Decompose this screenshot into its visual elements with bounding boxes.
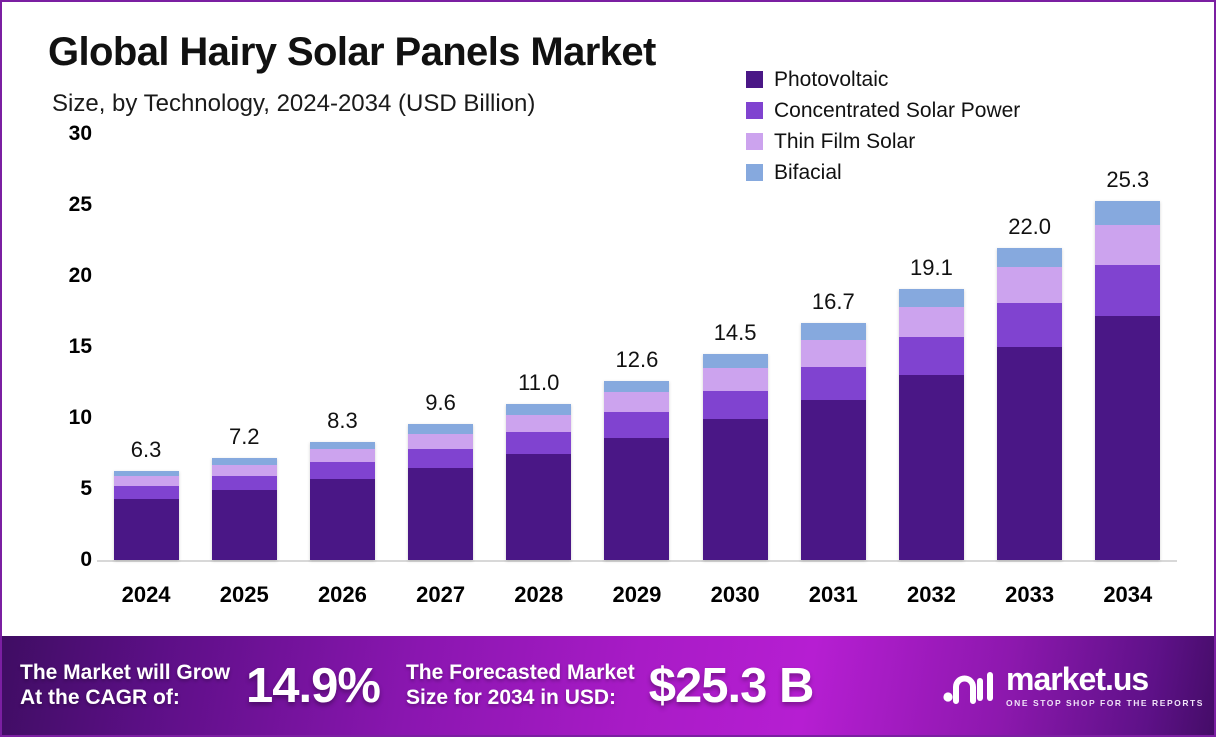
bar-total-label: 22.0 — [981, 214, 1079, 240]
bar-group[interactable]: 19.1 — [882, 134, 980, 560]
bar-total-label: 6.3 — [97, 437, 195, 463]
bar-segment[interactable] — [899, 307, 964, 337]
bar-total-label: 25.3 — [1079, 167, 1177, 193]
y-axis-tick-label: 10 — [69, 406, 92, 430]
cagr-caption-line1: The Market will Grow — [20, 661, 230, 686]
bar-segment[interactable] — [1095, 225, 1160, 265]
y-axis-tick-label: 20 — [69, 264, 92, 288]
bar-segment[interactable] — [604, 438, 669, 560]
bar-segment[interactable] — [114, 499, 179, 560]
stacked-bar[interactable] — [899, 289, 964, 560]
bar-segment[interactable] — [1095, 201, 1160, 225]
bar-segment[interactable] — [604, 412, 669, 438]
x-axis-tick-label: 2026 — [293, 582, 391, 608]
x-axis-tick-label: 2025 — [195, 582, 293, 608]
stacked-bar[interactable] — [310, 442, 375, 560]
logo-tagline: ONE STOP SHOP FOR THE REPORTS — [1006, 698, 1204, 708]
bar-segment[interactable] — [212, 490, 277, 560]
market-us-logo-text: market.us ONE STOP SHOP FOR THE REPORTS — [1006, 663, 1204, 708]
bar-segment[interactable] — [1095, 316, 1160, 560]
forecast-caption: The Forecasted Market Size for 2034 in U… — [406, 661, 635, 711]
logo-wordmark: market.us — [1006, 663, 1204, 695]
bar-segment[interactable] — [212, 476, 277, 490]
market-us-logo[interactable]: market.us ONE STOP SHOP FOR THE REPORTS — [943, 663, 1204, 708]
bar-segment[interactable] — [703, 368, 768, 391]
bar-total-label: 16.7 — [784, 289, 882, 315]
bar-segment[interactable] — [1095, 265, 1160, 316]
page-title: Global Hairy Solar Panels Market — [48, 30, 656, 75]
bar-segment[interactable] — [310, 442, 375, 449]
x-axis-tick-label: 2028 — [490, 582, 588, 608]
x-axis-tick-label: 2024 — [97, 582, 195, 608]
y-axis-tick-label: 5 — [80, 477, 92, 501]
y-axis: 051015202530 — [32, 134, 92, 560]
legend-item-label: Photovoltaic — [774, 68, 888, 92]
stacked-bar[interactable] — [408, 424, 473, 560]
bar-total-label: 8.3 — [293, 408, 391, 434]
bar-series-area: 6.37.28.39.611.012.614.516.719.122.025.3 — [97, 134, 1177, 560]
stacked-bar[interactable] — [703, 354, 768, 560]
bar-group[interactable]: 16.7 — [784, 134, 882, 560]
bar-total-label: 11.0 — [490, 370, 588, 396]
bar-segment[interactable] — [604, 381, 669, 392]
bar-segment[interactable] — [801, 367, 866, 400]
x-axis-tick-label: 2027 — [392, 582, 490, 608]
y-axis-tick-label: 0 — [80, 548, 92, 572]
stacked-bar[interactable] — [114, 471, 179, 560]
bar-group[interactable]: 25.3 — [1079, 134, 1177, 560]
bar-total-label: 9.6 — [392, 390, 490, 416]
bar-segment[interactable] — [310, 479, 375, 560]
market-us-logo-icon — [943, 668, 997, 704]
bar-group[interactable]: 6.3 — [97, 134, 195, 560]
bar-segment[interactable] — [997, 303, 1062, 347]
x-axis-tick-label: 2029 — [588, 582, 686, 608]
bar-group[interactable]: 12.6 — [588, 134, 686, 560]
bar-segment[interactable] — [899, 289, 964, 307]
bar-segment[interactable] — [506, 404, 571, 415]
bar-segment[interactable] — [604, 392, 669, 412]
bar-segment[interactable] — [506, 415, 571, 432]
bar-total-label: 14.5 — [686, 320, 784, 346]
x-axis-tick-label: 2033 — [981, 582, 1079, 608]
x-axis-tick-label: 2031 — [784, 582, 882, 608]
stacked-bar[interactable] — [801, 323, 866, 560]
stacked-bar[interactable] — [212, 458, 277, 560]
bar-group[interactable]: 7.2 — [195, 134, 293, 560]
legend-item-label: Concentrated Solar Power — [774, 99, 1020, 123]
bar-segment[interactable] — [310, 462, 375, 479]
footer-banner: The Market will Grow At the CAGR of: 14.… — [2, 636, 1216, 735]
bar-group[interactable]: 22.0 — [981, 134, 1079, 560]
infographic-page: Global Hairy Solar Panels Market Size, b… — [0, 0, 1216, 737]
legend-item: Photovoltaic — [746, 68, 1020, 91]
bar-group[interactable]: 14.5 — [686, 134, 784, 560]
bar-segment[interactable] — [114, 486, 179, 499]
bar-segment[interactable] — [310, 449, 375, 462]
bar-segment[interactable] — [114, 476, 179, 486]
stacked-bar[interactable] — [604, 381, 669, 560]
bar-segment[interactable] — [212, 458, 277, 465]
stacked-bar[interactable] — [506, 404, 571, 560]
y-axis-tick-label: 30 — [69, 122, 92, 146]
bar-segment[interactable] — [899, 375, 964, 560]
bar-segment[interactable] — [899, 337, 964, 375]
forecast-value: $25.3 B — [649, 658, 814, 714]
x-axis-labels: 2024202520262027202820292030203120322033… — [97, 578, 1177, 612]
bar-total-label: 12.6 — [588, 347, 686, 373]
axis-baseline — [97, 560, 1177, 562]
bar-segment[interactable] — [801, 400, 866, 560]
forecast-caption-line1: The Forecasted Market — [406, 661, 635, 686]
y-axis-tick-label: 25 — [69, 193, 92, 217]
page-subtitle: Size, by Technology, 2024-2034 (USD Bill… — [52, 90, 535, 118]
cagr-value: 14.9% — [246, 658, 380, 714]
bar-segment[interactable] — [408, 468, 473, 560]
bar-segment[interactable] — [997, 248, 1062, 268]
x-axis-tick-label: 2030 — [686, 582, 784, 608]
bar-group[interactable]: 11.0 — [490, 134, 588, 560]
cagr-caption-line2: At the CAGR of: — [20, 686, 230, 711]
bar-segment[interactable] — [212, 465, 277, 476]
x-axis-tick-label: 2034 — [1079, 582, 1177, 608]
x-axis-tick-label: 2032 — [882, 582, 980, 608]
y-axis-tick-label: 15 — [69, 335, 92, 359]
bar-segment[interactable] — [408, 424, 473, 434]
legend-swatch-icon — [746, 102, 763, 119]
stacked-bar[interactable] — [997, 248, 1062, 560]
bar-segment[interactable] — [703, 419, 768, 560]
bar-segment[interactable] — [997, 267, 1062, 303]
bar-segment[interactable] — [408, 449, 473, 467]
bar-segment[interactable] — [506, 454, 571, 561]
forecast-caption-line2: Size for 2034 in USD: — [406, 686, 635, 711]
bar-segment[interactable] — [801, 323, 866, 340]
stacked-bar[interactable] — [1095, 201, 1160, 560]
bar-segment[interactable] — [703, 391, 768, 419]
legend-item: Concentrated Solar Power — [746, 99, 1020, 122]
legend-swatch-icon — [746, 71, 763, 88]
bar-total-label: 7.2 — [195, 424, 293, 450]
bar-segment[interactable] — [408, 434, 473, 450]
bar-segment[interactable] — [801, 340, 866, 367]
cagr-caption: The Market will Grow At the CAGR of: — [20, 661, 230, 711]
bar-total-label: 19.1 — [882, 255, 980, 281]
bar-group[interactable]: 9.6 — [392, 134, 490, 560]
bar-segment[interactable] — [506, 432, 571, 453]
bar-segment[interactable] — [997, 347, 1062, 560]
bar-segment[interactable] — [703, 354, 768, 368]
bar-group[interactable]: 8.3 — [293, 134, 391, 560]
